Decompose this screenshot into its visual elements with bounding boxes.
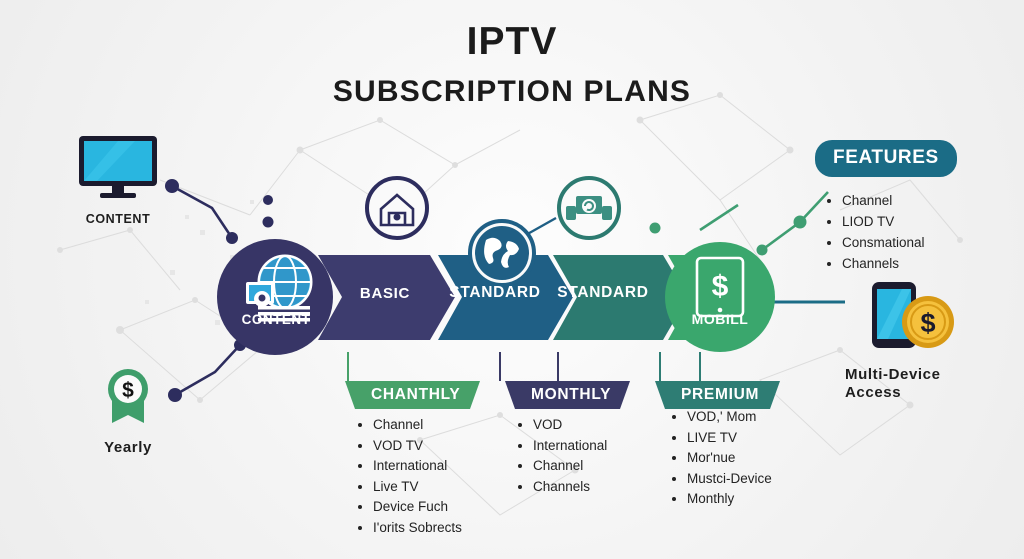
content-icon-block: CONTENT [62, 132, 174, 226]
list-item: Mustci-Device [687, 469, 817, 490]
flow-node-standard-2 [553, 255, 688, 340]
flow-node-mobill [665, 242, 775, 352]
plan-list-chanthly: Channel VOD TV International Live TV Dev… [358, 415, 508, 538]
flow-label-mobill: MOBILL [672, 311, 768, 327]
list-item: Monthly [687, 489, 817, 510]
flow-label-basic: BASIC [340, 285, 430, 302]
list-item: International [533, 436, 658, 457]
features-badge: FEATURES [815, 140, 957, 177]
globe-icon-circle [470, 221, 534, 285]
title-line-1: IPTV [0, 22, 1024, 63]
list-item: VOD TV [373, 436, 508, 457]
title-line-2: SUBSCRIPTION PLANS [0, 75, 1024, 109]
flow-label-standard-1: STANDARD [440, 284, 550, 302]
plan-banner-monthly: MONTHLY [505, 381, 630, 409]
yearly-badge-icon: $ [99, 365, 157, 427]
list-item: VOD,' Mom [687, 407, 817, 428]
globe-library-icon [246, 256, 311, 322]
list-item: Channels [533, 477, 658, 498]
list-item: I'orits Sobrects [373, 518, 508, 539]
plan-list-monthly: VOD International Channel Channels [518, 415, 658, 497]
flow-node-content [217, 239, 333, 355]
flow-label-standard-2: STANDARD [548, 284, 658, 302]
list-item: Mor'nue [687, 448, 817, 469]
yearly-icon-block: $ Yearly [78, 365, 178, 456]
content-icon-label: CONTENT [62, 212, 174, 226]
plan-banner-premium: PREMIUM [655, 381, 780, 409]
list-item: International [373, 456, 508, 477]
list-item: Channel [533, 456, 658, 477]
list-item: Channels [842, 253, 1008, 274]
home-icon-circle [367, 178, 427, 238]
tablet-dollar-icon [697, 258, 743, 316]
list-item: LIOD TV [842, 211, 1008, 232]
plan-list-premium: VOD,' Mom LIVE TV Mor'nue Mustci-Device … [672, 407, 817, 510]
multi-device-label: Multi-Device Access [845, 366, 980, 401]
svg-text:$: $ [920, 308, 935, 338]
list-item: Channel [842, 190, 1008, 211]
flow-label-content: CONTENT [228, 312, 324, 327]
banner-label: MONTHLY [505, 386, 611, 404]
tv-monitor-icon [73, 132, 163, 200]
plan-banner-chanthly: CHANTHLY [345, 381, 480, 409]
dollar-glyph: $ [712, 270, 729, 303]
multi-device-icon-block: $ Multi-Device Access [845, 278, 980, 401]
banner-label: CHANTHLY [345, 386, 460, 404]
multi-device-icon: $ [858, 278, 968, 352]
list-item: Device Fuch [373, 497, 508, 518]
banner-label: PREMIUM [655, 386, 759, 404]
flow-node-standard-1 [438, 255, 573, 340]
flow-node-mobill-chevron [668, 255, 755, 340]
list-item: LIVE TV [687, 428, 817, 449]
devices-sync-icon-circle [559, 178, 619, 238]
flow-node-basic [318, 255, 455, 340]
yearly-icon-label: Yearly [78, 439, 178, 456]
page-title: IPTV SUBSCRIPTION PLANS [0, 22, 1024, 109]
features-list: Channel LIOD TV Consmational Channels [828, 190, 1008, 274]
list-item: Consmational [842, 232, 1008, 253]
svg-text:$: $ [122, 379, 134, 402]
list-item: Channel [373, 415, 508, 436]
list-item: VOD [533, 415, 658, 436]
list-item: Live TV [373, 477, 508, 498]
infographic-canvas: IPTV SUBSCRIPTION PLANS CONTENT $ Yearly [0, 0, 1024, 559]
